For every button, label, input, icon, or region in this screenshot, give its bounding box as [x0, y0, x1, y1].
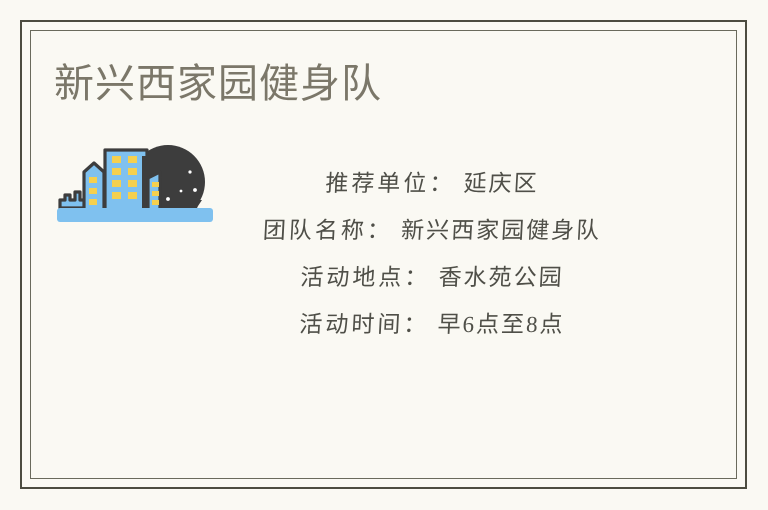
info-row-recommender: 推荐单位： 延庆区	[221, 160, 643, 207]
info-row-team-name: 团队名称： 新兴西家园健身队	[221, 207, 643, 254]
info-value-team-name: 新兴西家园健身队	[400, 218, 601, 243]
team-info-list: 推荐单位： 延庆区 团队名称： 新兴西家园健身队 活动地点： 香水苑公园 活动时…	[222, 160, 642, 348]
info-value-recommender: 延庆区	[463, 171, 539, 196]
info-card: 新兴西家园健身队	[0, 0, 768, 510]
page-title: 新兴西家园健身队	[54, 62, 382, 106]
info-label-recommender: 推荐单位：	[325, 171, 456, 196]
night-cityscape-icon	[56, 142, 214, 228]
info-value-time: 早6点至8点	[437, 312, 565, 337]
info-row-time: 活动时间： 早6点至8点	[221, 301, 643, 348]
info-value-location: 香水苑公园	[438, 265, 564, 290]
info-label-team-name: 团队名称：	[262, 218, 393, 243]
info-label-location: 活动地点：	[300, 265, 431, 290]
info-row-location: 活动地点： 香水苑公园	[221, 254, 643, 301]
info-label-time: 活动时间：	[299, 312, 430, 337]
